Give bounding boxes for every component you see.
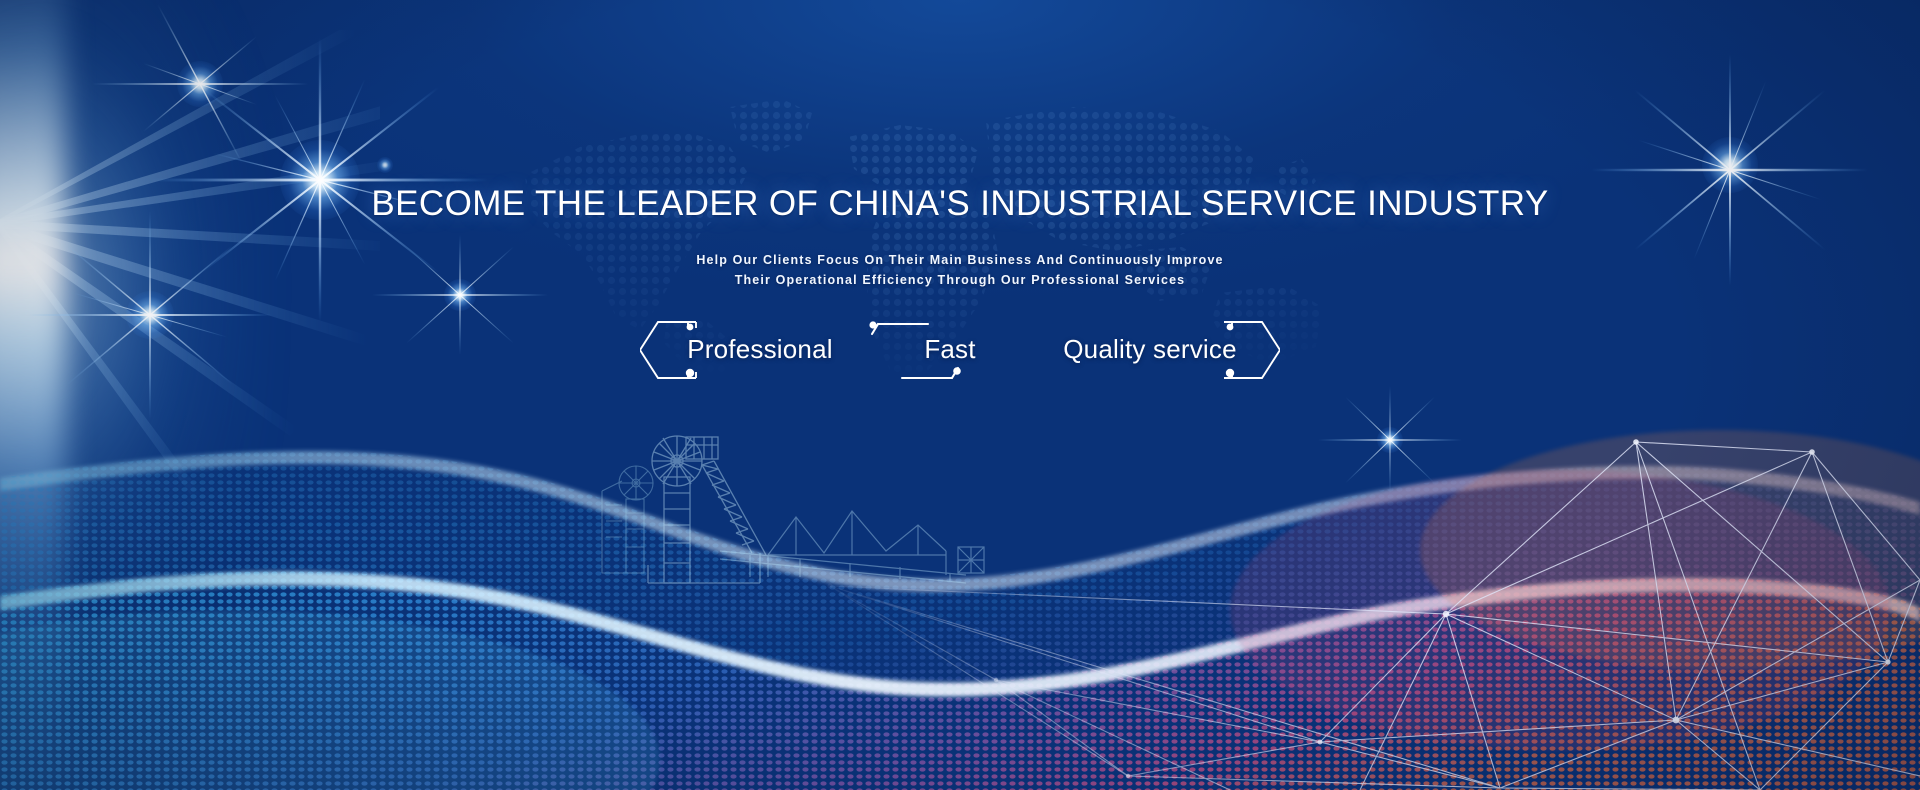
hero-banner: BECOME THE LEADER OF CHINA'S INDUSTRIAL … (0, 0, 1920, 790)
feature-badges: Professional Fast Quality service (0, 316, 1920, 384)
badge-fast[interactable]: Fast (875, 334, 1025, 365)
badge-quality-service[interactable]: Quality service (1025, 334, 1275, 365)
subtitle-line-1: Help Our Clients Focus On Their Main Bus… (0, 250, 1920, 270)
badge-label-row: Professional Fast Quality service (0, 316, 1920, 384)
subtitle-line-2: Their Operational Efficiency Through Our… (0, 270, 1920, 290)
badge-professional[interactable]: Professional (645, 334, 875, 365)
page-title: BECOME THE LEADER OF CHINA'S INDUSTRIAL … (0, 186, 1920, 223)
subtitle-block: Help Our Clients Focus On Their Main Bus… (0, 250, 1920, 290)
hero-content: BECOME THE LEADER OF CHINA'S INDUSTRIAL … (0, 186, 1920, 384)
industrial-silhouette (600, 425, 1020, 615)
